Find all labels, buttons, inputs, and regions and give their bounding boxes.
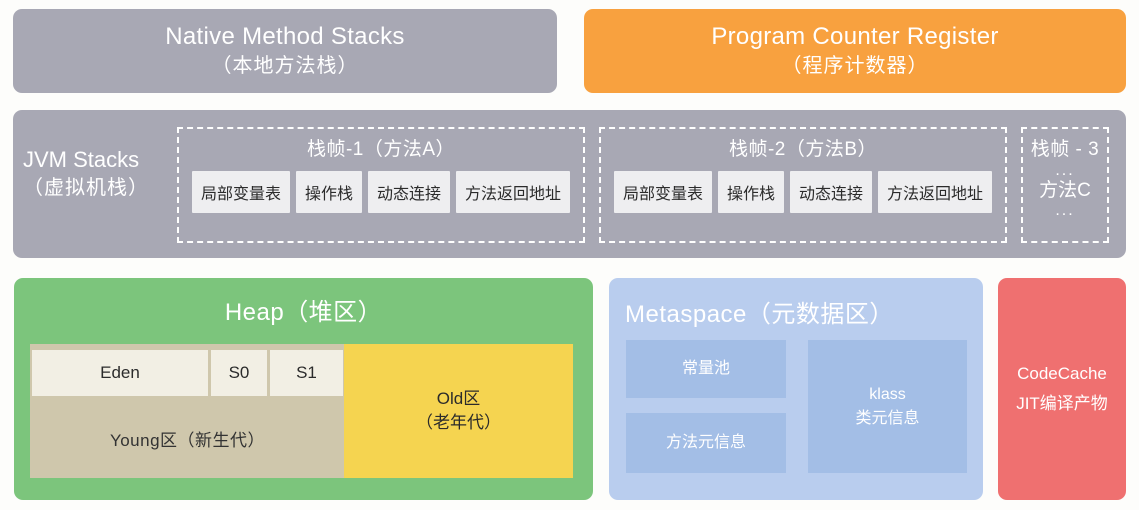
heap-block: Heap（堆区） Eden S0 S1 Young区（新生代） Old区 （老年… (14, 278, 593, 500)
frame-part-dynamic-linking: 动态连接 (368, 171, 450, 213)
young-generation-label: Young区（新生代） (30, 426, 345, 451)
stack-frame-2: 栈帧-2（方法B） 局部变量表 操作栈 动态连接 方法返回地址 (599, 127, 1007, 243)
klass-line2: 类元信息 (855, 407, 919, 431)
program-counter-register-title-en: Program Counter Register (711, 22, 998, 52)
stack-frame-2-parts: 局部变量表 操作栈 动态连接 方法返回地址 (614, 171, 992, 213)
stack-frame-3-dots-bottom: ... (1055, 202, 1074, 220)
program-counter-register-title-cn: （程序计数器） (782, 52, 929, 80)
native-method-stacks-block: Native Method Stacks （本地方法栈） (13, 9, 557, 93)
young-generation-block: Eden S0 S1 Young区（新生代） (30, 344, 345, 478)
stack-frame-1-parts: 局部变量表 操作栈 动态连接 方法返回地址 (192, 171, 570, 213)
frame-part-local-variable-table: 局部变量表 (192, 171, 290, 213)
stack-frame-1: 栈帧-1（方法A） 局部变量表 操作栈 动态连接 方法返回地址 (177, 127, 585, 243)
code-cache-line2: JIT编译产物 (1016, 389, 1108, 419)
stack-frame-3: 栈帧 - 3 ... 方法C ... (1021, 127, 1109, 243)
survivor-0-cell: S0 (211, 350, 267, 396)
stack-frame-2-title: 栈帧-2（方法B） (729, 138, 877, 162)
frame-part-return-address: 方法返回地址 (456, 171, 570, 213)
metaspace-block: Metaspace（元数据区） 常量池 方法元信息 klass 类元信息 (609, 278, 983, 500)
jvm-stacks-title-en: JVM Stacks (23, 146, 181, 174)
jvm-stacks-title-cn: （虚拟机栈） (23, 174, 181, 202)
stack-frame-3-dots-top: ... (1055, 162, 1074, 180)
frame-part-local-variable-table: 局部变量表 (614, 171, 712, 213)
stack-frame-3-method: 方法C (1039, 180, 1091, 202)
frame-part-operand-stack: 操作栈 (718, 171, 784, 213)
jvm-stacks-block: JVM Stacks （虚拟机栈） 栈帧-1（方法A） 局部变量表 操作栈 动态… (13, 110, 1126, 258)
klass-meta-info-cell: klass 类元信息 (808, 340, 967, 473)
frame-part-return-address: 方法返回地址 (878, 171, 992, 213)
frame-part-dynamic-linking: 动态连接 (790, 171, 872, 213)
native-method-stacks-title-cn: （本地方法栈） (212, 52, 359, 80)
eden-cell: Eden (32, 350, 208, 396)
constant-pool-cell: 常量池 (626, 340, 786, 398)
stack-frame-1-title: 栈帧-1（方法A） (307, 138, 455, 162)
jvm-memory-diagram: Native Method Stacks （本地方法栈） Program Cou… (0, 0, 1139, 510)
young-generation-cells: Eden S0 S1 (30, 350, 345, 396)
jvm-stacks-label: JVM Stacks （虚拟机栈） (23, 146, 181, 202)
old-generation-line2: （老年代） (416, 411, 501, 435)
old-generation-line1: Old区 (437, 387, 480, 411)
method-meta-info-cell: 方法元信息 (626, 413, 786, 473)
native-method-stacks-title-en: Native Method Stacks (165, 22, 404, 52)
program-counter-register-block: Program Counter Register （程序计数器） (584, 9, 1126, 93)
klass-line1: klass (869, 383, 905, 407)
metaspace-title: Metaspace（元数据区） (625, 294, 894, 329)
survivor-1-cell: S1 (270, 350, 343, 396)
frame-part-operand-stack: 操作栈 (296, 171, 362, 213)
stack-frame-3-title: 栈帧 - 3 (1031, 138, 1099, 162)
code-cache-block: CodeCache JIT编译产物 (998, 278, 1126, 500)
old-generation-block: Old区 （老年代） (344, 344, 573, 478)
code-cache-line1: CodeCache (1017, 359, 1107, 389)
heap-title: Heap（堆区） (14, 292, 593, 327)
